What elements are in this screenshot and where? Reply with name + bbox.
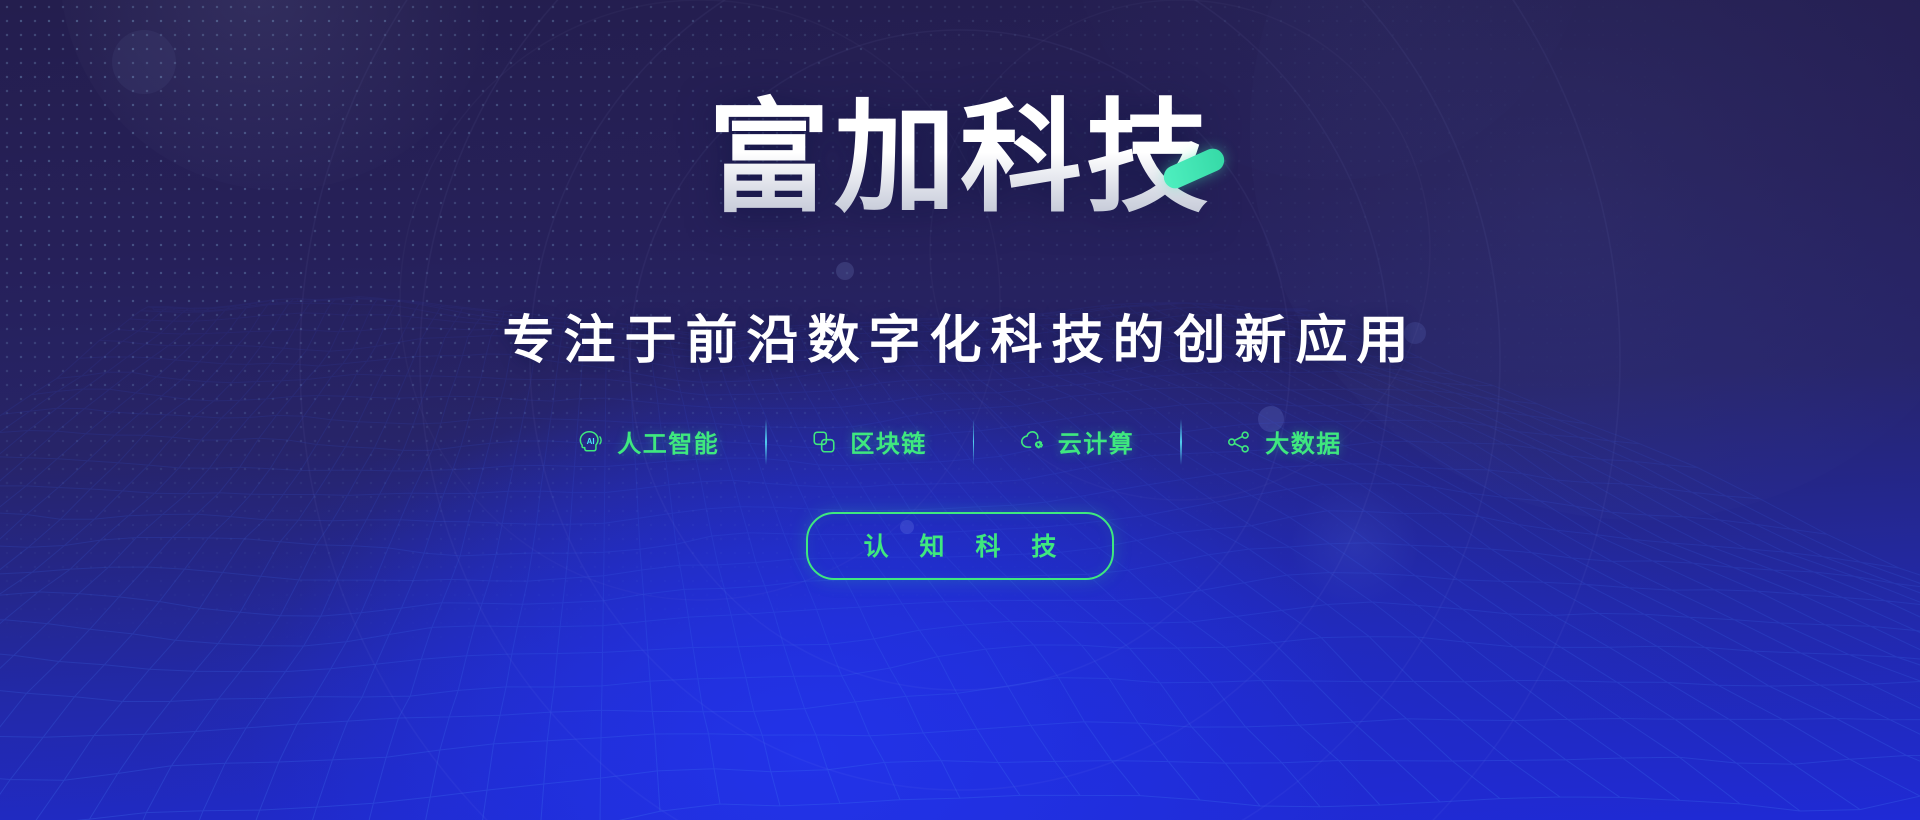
feature-label-bigdata: 大数据 — [1265, 424, 1342, 459]
hero-banner: 富加科技 专注于前沿数字化科技的创新应用 AI 人工智能 区块链 — [0, 0, 1920, 820]
feature-item-cloud[interactable]: 云计算 — [973, 424, 1181, 459]
feature-item-ai[interactable]: AI 人工智能 — [532, 424, 765, 459]
feature-item-blockchain[interactable]: 区块链 — [765, 424, 973, 459]
feature-list: AI 人工智能 区块链 云计算 — [0, 424, 1920, 459]
cta-row: 认 知 科 技 — [0, 512, 1920, 580]
logo-text: 富加科技 — [0, 88, 1920, 228]
hero-subtitle: 专注于前沿数字化科技的创新应用 — [0, 298, 1920, 373]
feature-item-bigdata[interactable]: 大数据 — [1180, 424, 1388, 459]
feature-label-cloud: 云计算 — [1058, 424, 1135, 459]
share-nodes-icon — [1226, 429, 1252, 455]
feature-label-ai: 人工智能 — [617, 424, 719, 459]
blockchain-icon — [811, 429, 837, 455]
svg-text:AI: AI — [587, 437, 595, 446]
ai-head-icon: AI — [578, 429, 604, 455]
logo-block: 富加科技 — [0, 0, 1920, 230]
feature-label-blockchain: 区块链 — [850, 424, 927, 459]
cta-button[interactable]: 认 知 科 技 — [806, 512, 1115, 580]
hero-content: 富加科技 专注于前沿数字化科技的创新应用 AI 人工智能 区块链 — [0, 0, 1920, 820]
cloud-gear-icon — [1019, 429, 1045, 455]
